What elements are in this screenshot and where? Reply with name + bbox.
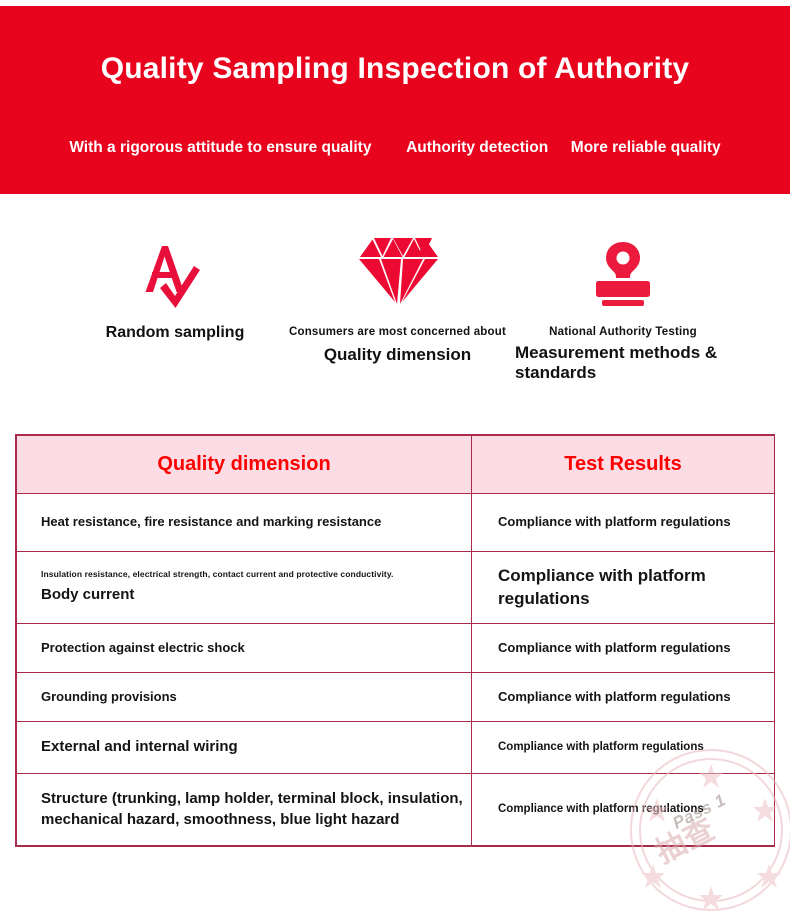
feature-highlights: Random sampling Consumers: [0, 230, 790, 405]
cell-test-result: Compliance with platform regulations: [472, 774, 775, 846]
cell-dimension-note: Insulation resistance, electrical streng…: [41, 569, 471, 580]
cell-quality-dimension: Insulation resistance, electrical streng…: [17, 552, 472, 624]
cell-quality-dimension: Heat resistance, fire resistance and mar…: [17, 494, 472, 552]
table-row: Insulation resistance, electrical streng…: [17, 552, 775, 624]
page-title: Quality Sampling Inspection of Authority: [0, 52, 790, 86]
cell-dimension-label: Body current: [41, 585, 471, 606]
diamond-gem-icon: [280, 230, 515, 310]
cell-quality-dimension: Structure (trunking, lamp holder, termin…: [17, 774, 472, 846]
cell-quality-dimension: Grounding provisions: [17, 673, 472, 722]
feature-note-quality-dimension: Consumers are most concerned about: [280, 326, 515, 338]
quality-results-table-wrapper: Quality dimension Test Results Heat resi…: [15, 434, 775, 847]
cell-test-result: Compliance with platform regulations: [472, 673, 775, 722]
table-header-row: Quality dimension Test Results: [17, 436, 775, 494]
feature-measurement-standards: National Authority Testing Measurement m…: [513, 230, 733, 384]
page-banner: Quality Sampling Inspection of Authority…: [0, 6, 790, 194]
table-row: Protection against electric shock Compli…: [17, 624, 775, 673]
table-row: External and internal wiring Compliance …: [17, 722, 775, 774]
feature-label-measurement-standards: Measurement methods & standards: [513, 343, 733, 384]
feature-note-measurement-standards: National Authority Testing: [513, 326, 733, 338]
table-row: Structure (trunking, lamp holder, termin…: [17, 774, 775, 846]
rubber-stamp-icon: [513, 230, 733, 310]
cell-test-result: Compliance with platform regulations: [472, 624, 775, 673]
banner-subtitle-part-1: With a rigorous attitude to ensure quali…: [69, 139, 371, 157]
cell-test-result: Compliance with platform regulations: [472, 552, 775, 624]
cell-quality-dimension: External and internal wiring: [17, 722, 472, 774]
cell-quality-dimension: Protection against electric shock: [17, 624, 472, 673]
table-row: Heat resistance, fire resistance and mar…: [17, 494, 775, 552]
table-row: Grounding provisions Compliance with pla…: [17, 673, 775, 722]
column-header-quality-dimension: Quality dimension: [17, 436, 472, 494]
banner-subtitle: With a rigorous attitude to ensure quali…: [0, 139, 790, 157]
feature-random-sampling: Random sampling: [85, 230, 265, 342]
column-header-test-results: Test Results: [472, 436, 775, 494]
feature-quality-dimension: Consumers are most concerned about Quali…: [280, 230, 515, 365]
feature-label-random-sampling: Random sampling: [85, 324, 265, 342]
banner-subtitle-part-2: Authority detection: [406, 139, 548, 157]
letter-a-check-icon: [85, 230, 265, 310]
cell-test-result: Compliance with platform regulations: [472, 722, 775, 774]
quality-results-table: Quality dimension Test Results Heat resi…: [16, 435, 775, 846]
banner-subtitle-part-3: More reliable quality: [571, 139, 721, 157]
feature-label-quality-dimension: Quality dimension: [280, 345, 515, 365]
cell-test-result: Compliance with platform regulations: [472, 494, 775, 552]
